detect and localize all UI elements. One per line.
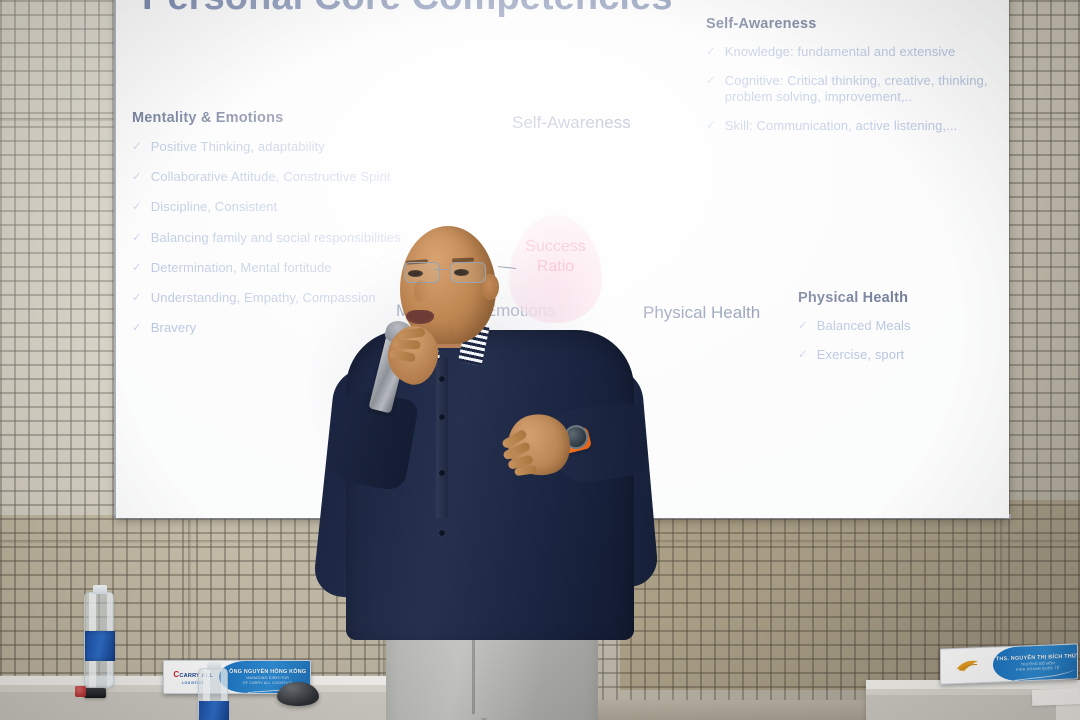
block-heading: Physical Health: [798, 290, 1028, 306]
block-heading: Self-Awareness: [706, 16, 1006, 32]
bullet-item: ✓ Skill: Communication, active listening…: [706, 118, 1006, 135]
slide-title: Personal Core Competencies: [142, 0, 673, 19]
trouser-fly: [472, 630, 475, 714]
placard-blue-panel: THS. NGUYỄN THỊ BÍCH THỦY TRƯỞNG BỘ MÔN …: [993, 644, 1077, 681]
bullet-text: Positive Thinking, adaptability: [151, 139, 325, 156]
shirt-button: [439, 376, 445, 382]
check-icon: ✓: [132, 199, 142, 216]
bottle-label: [85, 631, 115, 661]
bullet-text: Cognitive: Critical thinking, creative, …: [725, 73, 1006, 106]
check-icon: ✓: [798, 347, 808, 364]
slide-block-physical-health: Physical Health ✓ Balanced Meals ✓ Exerc…: [798, 290, 1028, 375]
presenter: [340, 218, 640, 720]
check-icon: ✓: [132, 290, 142, 307]
bullet-text: Balanced Meals: [817, 318, 911, 335]
bullet-item: ✓ Knowledge: fundamental and extensive: [706, 44, 1006, 61]
water-bottle: [198, 668, 228, 720]
bottle-cap: [207, 662, 221, 670]
bullet-item: ✓ Balanced Meals: [798, 318, 1028, 335]
conference-room-scene: Personal Core Competencies Mentality & E…: [0, 0, 1080, 720]
check-icon: ✓: [706, 118, 716, 135]
shirt-button: [439, 470, 445, 476]
bullet-item: ✓ Exercise, sport: [798, 347, 1028, 364]
name-placard-right: THS. NGUYỄN THỊ BÍCH THỦY TRƯỞNG BỘ MÔN …: [940, 643, 1078, 684]
bullet-text: Collaborative Attitude, Constructive Spi…: [151, 169, 391, 186]
bullet-item: ✓ Collaborative Attitude, Constructive S…: [132, 169, 552, 186]
bird-logo-icon: [954, 656, 982, 675]
bullet-text: Bravery: [151, 320, 197, 337]
check-icon: ✓: [798, 318, 808, 335]
bottle-cap: [93, 585, 107, 594]
bullet-text: Knowledge: fundamental and extensive: [725, 44, 956, 61]
block-heading: Mentality & Emotions: [132, 110, 552, 126]
bullet-item: ✓ Discipline, Consistent: [132, 199, 552, 216]
bullet-item: ✓ Positive Thinking, adaptability: [132, 139, 552, 156]
check-icon: ✓: [132, 139, 142, 156]
venn-label-physical-health: Physical Health: [643, 302, 760, 323]
check-icon: ✓: [132, 320, 142, 337]
pen-cap: [75, 686, 86, 697]
slide-block-self-awareness: Self-Awareness ✓ Knowledge: fundamental …: [706, 16, 1006, 147]
check-icon: ✓: [706, 73, 716, 90]
bullet-item: ✓ Cognitive: Critical thinking, creative…: [706, 73, 1006, 106]
bullet-text: Exercise, sport: [817, 347, 904, 364]
marker-pen: [84, 688, 106, 698]
computer-mouse[interactable]: [277, 682, 319, 706]
check-icon: ✓: [132, 169, 142, 186]
shirt-button: [439, 530, 445, 536]
placard-logo: [941, 648, 995, 684]
eyeglasses: [398, 262, 502, 284]
placard-name: ÔNG NGUYỄN HỒNG KÔNG: [229, 669, 306, 675]
check-icon: ✓: [706, 44, 716, 61]
check-icon: ✓: [132, 260, 142, 277]
water-bottle: [84, 592, 114, 688]
shirt-button: [439, 414, 445, 420]
check-icon: ✓: [132, 230, 142, 247]
presenter-nose: [414, 280, 430, 302]
paper-sheet: [1032, 688, 1080, 706]
bullet-text: Skill: Communication, active listening,.…: [725, 118, 958, 135]
placard-line2: MANAGING DIRECTOR: [246, 676, 289, 680]
venn-label-self-awareness: Self-Awareness: [512, 112, 631, 133]
shirt-placket: [436, 358, 448, 518]
bullet-text: Discipline, Consistent: [151, 199, 277, 216]
bottle-label: [199, 701, 229, 720]
